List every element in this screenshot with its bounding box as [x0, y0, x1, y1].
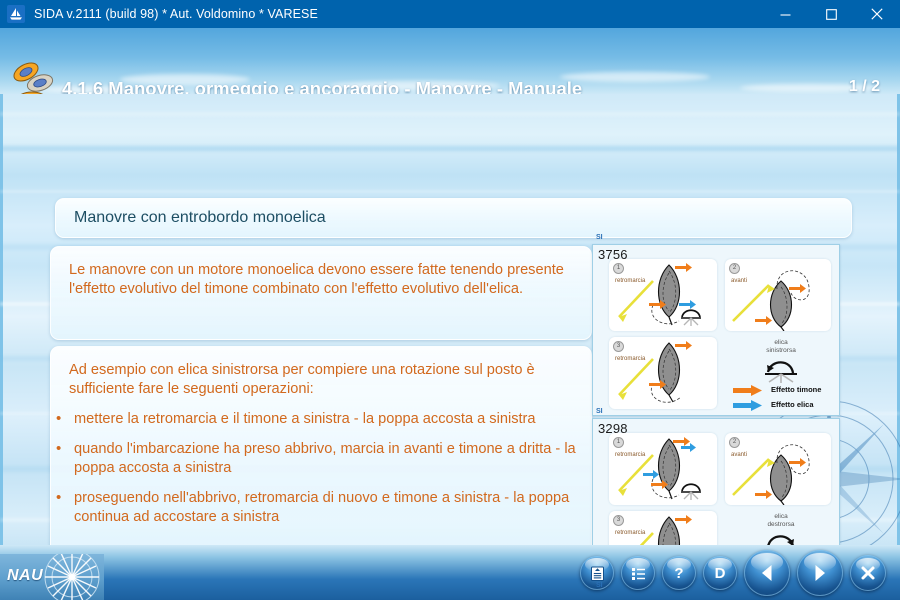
figure-panel-1[interactable]: 3756 1 retromarcia — [592, 244, 840, 416]
steps-list: mettere la retromarcia e il timone a sin… — [51, 410, 591, 527]
list-item: quando l'imbarcazione ha preso abbrivo, … — [51, 440, 591, 478]
help-label: ? — [674, 565, 683, 582]
index-list-icon[interactable] — [621, 556, 655, 590]
boat-diagram-2 — [725, 433, 831, 505]
rudder-effect-arrow-icon — [733, 385, 765, 396]
cloud-fleck — [560, 72, 710, 82]
sailboat-icon — [7, 5, 25, 23]
content-stage: S Manovre con entrobordo monoelica Le ma… — [0, 94, 900, 600]
next-icon[interactable] — [797, 550, 843, 596]
figure-number: 3298 — [598, 421, 628, 436]
section-title: Manovre con entrobordo monoelica — [74, 209, 326, 227]
dictionary-label: D — [715, 565, 726, 582]
previous-icon[interactable] — [744, 550, 790, 596]
paragraph-2-intro: Ad esempio con elica sinistrorsa per com… — [51, 347, 591, 399]
page-title: 4.1.6 Manovre, ormeggio e ancoraggio - M… — [62, 78, 582, 94]
maximize-button[interactable] — [808, 0, 854, 28]
sida-logo — [6, 58, 68, 94]
boat-diagram-2 — [725, 259, 831, 331]
close-button[interactable] — [854, 0, 900, 28]
minimize-button[interactable] — [762, 0, 808, 28]
stage-left-edge — [0, 94, 3, 600]
propeller-label-line2: destrorsa — [733, 521, 829, 528]
nau-brand-label: NAU — [7, 567, 43, 585]
close-icon[interactable] — [850, 555, 886, 591]
page-indicator: 1 / 2 — [849, 78, 880, 94]
page-header: 4.1.6 Manovre, ormeggio e ancoraggio - M… — [0, 28, 900, 94]
si-marker: SI — [596, 582, 603, 589]
legend-label-rudder: Effetto timone — [771, 385, 821, 394]
water-streak — [0, 190, 900, 193]
legend-label-propeller: Effetto elica — [771, 400, 814, 409]
title-bar: SIDA v.2111 (build 98) * Aut. Voldomino … — [0, 0, 900, 28]
section-title-card: Manovre con entrobordo monoelica — [55, 198, 852, 238]
list-item: proseguendo nell'abbrivo, retromarcia di… — [51, 489, 591, 527]
list-item: mettere la retromarcia e il timone a sin… — [51, 410, 591, 429]
water-streak — [0, 146, 900, 151]
boat-diagram-1 — [609, 259, 717, 331]
propeller-label-line2: sinistrorsa — [733, 347, 829, 354]
si-marker: SI — [596, 408, 603, 415]
boat-diagram-3 — [609, 337, 717, 409]
si-marker: SI — [596, 234, 603, 241]
dictionary-icon[interactable]: D — [703, 556, 737, 590]
left-hand-propeller-icon — [757, 357, 805, 383]
paragraph-card-2: Ad esempio con elica sinistrorsa per com… — [50, 346, 592, 562]
paragraph-1-text: Le manovre con un motore monoelica devon… — [51, 247, 591, 299]
figure-number: 3756 — [598, 247, 628, 262]
propeller-label-line1: elica — [733, 513, 829, 520]
toolbar-buttons: ? D — [580, 549, 886, 597]
help-icon[interactable]: ? — [662, 556, 696, 590]
propeller-effect-arrow-icon — [733, 400, 765, 411]
nau-brand-panel: NAU — [0, 554, 104, 600]
window-title: SIDA v.2111 (build 98) * Aut. Voldomino … — [34, 7, 318, 21]
propeller-label-line1: elica — [733, 339, 829, 346]
application-window: SIDA v.2111 (build 98) * Aut. Voldomino … — [0, 0, 900, 600]
bottom-toolbar: NAU ? D — [0, 545, 900, 600]
water-streak — [0, 112, 900, 116]
compass-rose-icon — [34, 554, 104, 600]
paragraph-card-1: Le manovre con un motore monoelica devon… — [50, 246, 592, 340]
boat-diagram-1 — [609, 433, 717, 505]
